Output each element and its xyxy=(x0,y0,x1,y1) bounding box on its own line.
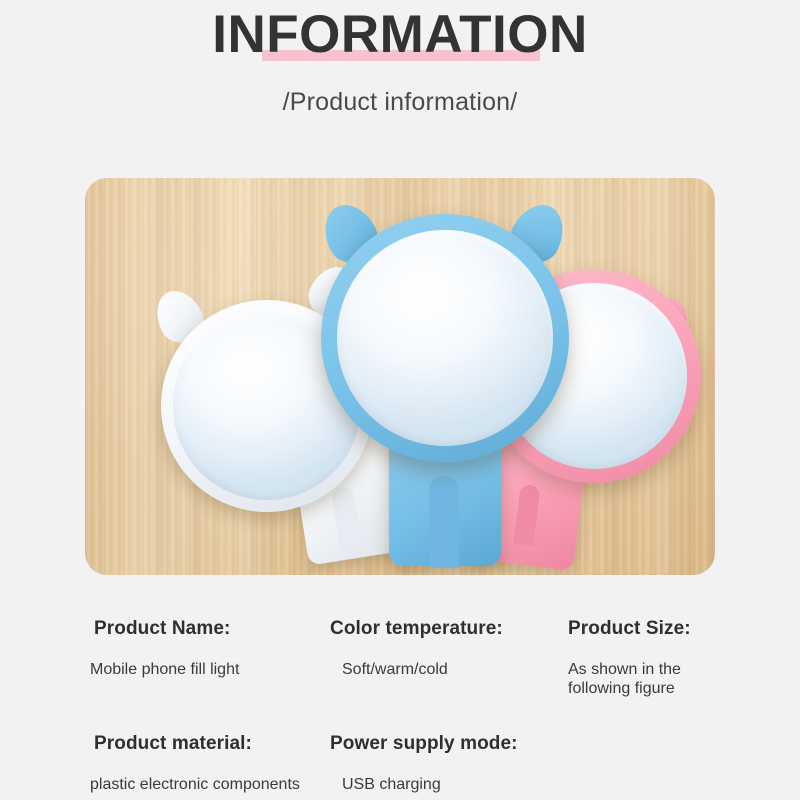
page-subtitle: /Product information/ xyxy=(0,88,800,117)
spec-color-temperature: Color temperature: Soft/warm/cold xyxy=(330,618,503,679)
blue-fill-light xyxy=(297,196,597,571)
page-title: INFORMATION xyxy=(212,4,587,66)
spec-value: As shown in the following figure xyxy=(568,660,698,698)
title-block: INFORMATION xyxy=(212,4,587,66)
spec-label: Product Size: xyxy=(568,618,698,640)
spec-product-name: Product Name: Mobile phone fill light xyxy=(94,618,239,679)
page-header: INFORMATION /Product information/ xyxy=(0,0,800,117)
spec-label: Power supply mode: xyxy=(330,733,518,755)
spec-label: Color temperature: xyxy=(330,618,503,640)
spec-label: Product material: xyxy=(94,733,300,755)
spec-label: Product Name: xyxy=(94,618,239,640)
product-photo xyxy=(85,178,715,575)
spec-product-size: Product Size: As shown in the following … xyxy=(568,618,698,698)
spec-product-material: Product material: plastic electronic com… xyxy=(94,733,300,794)
blue-light-diffuser xyxy=(337,230,553,446)
spec-value: USB charging xyxy=(342,775,518,794)
spec-value: plastic electronic components xyxy=(90,775,300,794)
blue-clip-slot xyxy=(429,476,459,568)
spec-value: Soft/warm/cold xyxy=(342,660,503,679)
spec-value: Mobile phone fill light xyxy=(90,660,239,679)
spec-power-supply-mode: Power supply mode: USB charging xyxy=(330,733,518,794)
product-information-page: INFORMATION /Product information/ xyxy=(0,0,800,800)
